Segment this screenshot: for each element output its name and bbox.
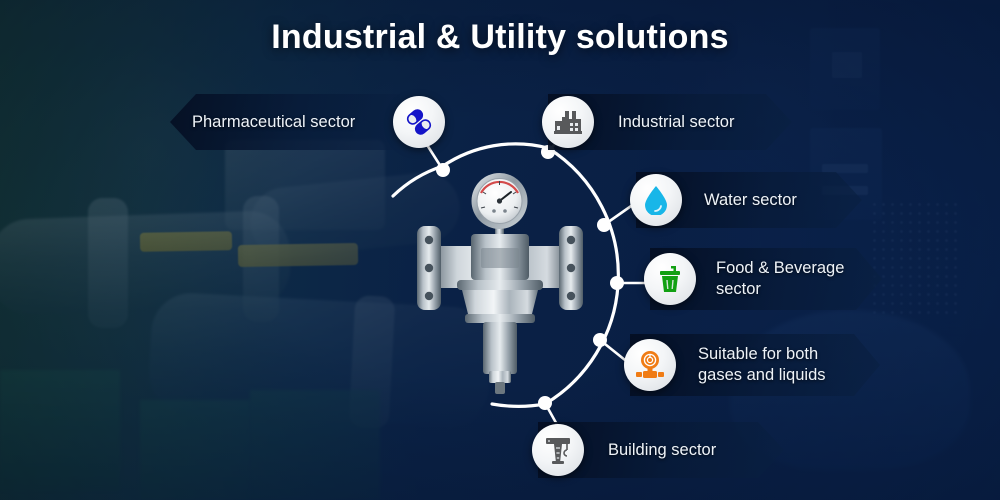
- flange-left: [417, 226, 441, 310]
- banner-label: Pharmaceutical sector: [192, 112, 355, 133]
- beverage-cup-icon: [644, 253, 696, 305]
- page-title: Industrial & Utility solutions: [0, 18, 1000, 57]
- housing-collar: [457, 280, 543, 290]
- product-image: [395, 168, 605, 398]
- banner-building[interactable]: Building sector: [538, 422, 784, 478]
- banner-water[interactable]: Water sector: [636, 172, 862, 228]
- banner-label: Water sector: [704, 190, 797, 211]
- valve-nameplate: [481, 248, 519, 268]
- spring-housing: [461, 286, 539, 318]
- housing-ring: [465, 314, 535, 323]
- adjusting-nut: [489, 371, 511, 383]
- factory-icon: [542, 96, 594, 148]
- banner-label: Food & Beverage sector: [716, 258, 844, 299]
- infographic-canvas: Industrial & Utility solutions: [0, 0, 1000, 500]
- banner-label: Industrial sector: [618, 112, 734, 133]
- adjusting-screw: [495, 382, 505, 394]
- valve-gauge-icon: [624, 339, 676, 391]
- flange-right: [559, 226, 583, 310]
- pills-icon: [393, 96, 445, 148]
- banner-label: Suitable for both gases and liquids: [698, 344, 826, 385]
- water-drop-icon: [630, 174, 682, 226]
- banner-label: Building sector: [608, 440, 716, 461]
- banner-food-beverage[interactable]: Food & Beverage sector: [650, 248, 882, 310]
- crane-icon: [532, 424, 584, 476]
- banner-gases-liquids[interactable]: Suitable for both gases and liquids: [630, 334, 880, 396]
- adjusting-tube: [483, 322, 517, 374]
- banner-pharmaceutical[interactable]: Pharmaceutical sector: [170, 94, 400, 150]
- banner-industrial[interactable]: Industrial sector: [548, 94, 792, 150]
